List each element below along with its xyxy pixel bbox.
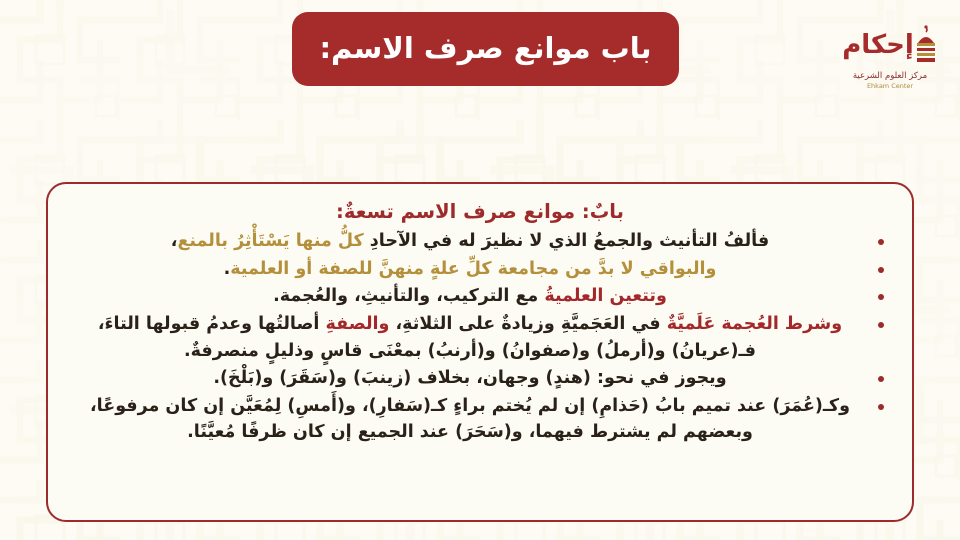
bullet-dot-icon [878, 294, 884, 300]
logo-subtitle-latin: Ehkam Center [867, 82, 913, 90]
slide-title-banner: باب موانع صرف الاسم: [292, 12, 679, 86]
bullet-dot-icon [878, 376, 884, 382]
list-item-text: والبواقي لا بدَّ من مجامعة كلِّ علةٍ منه… [230, 259, 716, 279]
list-item-text: وشرط العُجمة [715, 314, 842, 334]
bullet-dot-icon [878, 404, 884, 410]
bullet-list: فألفُ التأنيث والجمعُ الذي لا نظيرَ له ف… [74, 228, 886, 446]
page-title: باب موانع صرف الاسم: [319, 31, 651, 65]
content-card: بابٌ: موانع صرف الاسم تسعةٌ: فألفُ التأن… [46, 182, 914, 522]
bullet-dot-icon [878, 322, 884, 328]
list-item: ويجوز في نحو: (هندٍ) وجهان، بخلاف (زينبَ… [74, 365, 886, 392]
list-item-text: في العَجَميَّةِ وزيادةٌ على الثلاثةِ، [389, 314, 666, 334]
logo-wordmark: إحكام [842, 32, 914, 58]
list-item: وتتعين العلميةُ مع التركيب، والتأنيثِ، و… [74, 283, 886, 310]
list-item: وشرط العُجمة عَلَميَّةٌ في العَجَميَّةِ … [74, 311, 886, 364]
list-item: فألفُ التأنيث والجمعُ الذي لا نظيرَ له ف… [74, 228, 886, 255]
list-item-text: مع التركيب، والتأنيثِ، والعُجمة. [273, 286, 544, 306]
list-item-text: عَلَميَّةٌ [667, 314, 716, 334]
logo-mark: إحكام [842, 22, 938, 68]
list-item-text: وتتعين العلميةُ [544, 286, 667, 306]
logo-subtitle-arabic: مركز العلوم الشرعية [853, 71, 927, 81]
bullet-dot-icon [878, 267, 884, 273]
bullet-dot-icon [878, 239, 884, 245]
list-item: وكـ(عُمَرَ) عند تميم بابُ (حَذامِ) إن لم… [74, 393, 886, 446]
list-item-text: وكـ(عُمَرَ) عند تميم بابُ (حَذامِ) إن لم… [90, 396, 850, 443]
content-heading: بابٌ: موانع صرف الاسم تسعةٌ: [74, 198, 886, 226]
list-item-text: والصفةِ [326, 314, 390, 334]
list-item-text: فألفُ التأنيث والجمعُ الذي لا نظيرَ له ف… [364, 231, 769, 251]
mosque-dome-icon [914, 25, 938, 65]
list-item-text: كلُّ منها يَسْتَأْثِرُ بالمنع [177, 231, 363, 251]
brand-logo: إحكام مركز العلوم الشرعية Ehkam Center [834, 22, 946, 98]
list-item-text: ويجوز في نحو: (هندٍ) وجهان، بخلاف (زينبَ… [213, 368, 726, 388]
list-item: والبواقي لا بدَّ من مجامعة كلِّ علةٍ منه… [74, 256, 886, 283]
